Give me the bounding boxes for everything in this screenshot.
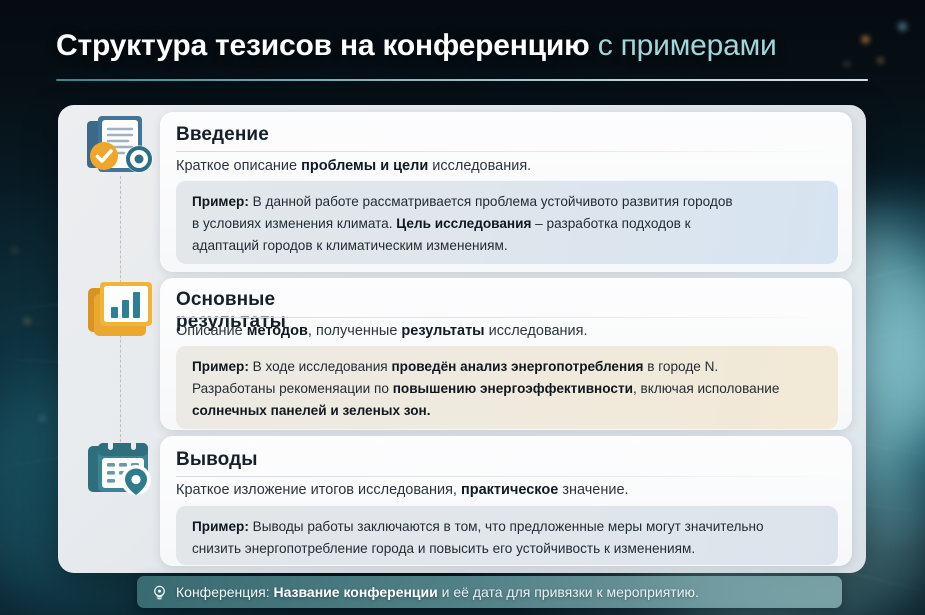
document-check-target-icon	[84, 114, 158, 184]
footer-bar[interactable]: Конференция: Название конференции и её д…	[137, 576, 842, 608]
section-subtitle: Описание методов, полученные результаты …	[176, 322, 588, 341]
section-heading-rule	[176, 476, 836, 477]
footer-text: Конференция: Название конференции и её д…	[176, 584, 699, 600]
slide-root: Структура тезисов на конференцию с приме…	[0, 0, 925, 615]
example-line: снизить энергопотребление города и повыс…	[192, 538, 822, 560]
background-bokeh	[878, 58, 883, 63]
page-title: Структура тезисов на конференцию с приме…	[56, 28, 868, 65]
example-label: Пример:	[192, 194, 249, 209]
example-label: Пример:	[192, 519, 249, 534]
example-line: в условиях изменения климата. Цель иссле…	[192, 213, 822, 235]
section-heading: Введение	[176, 124, 269, 146]
footer-label: Конференция:	[176, 584, 270, 600]
page-title-accent: с примерами	[598, 29, 777, 62]
example-box: Пример: В ходе исследования проведён ана…	[176, 345, 838, 429]
subtitle-bold: проблемы и цели	[301, 158, 428, 174]
section-heading-rule	[176, 151, 836, 152]
background-bokeh	[24, 318, 30, 324]
section-heading: Выводы	[176, 449, 258, 471]
example-line: Пример: В ходе исследования проведён ана…	[192, 356, 822, 378]
section-subtitle: Краткое описание проблемы и цели исследо…	[176, 157, 531, 176]
background-bokeh	[898, 22, 907, 31]
example-line: Пример: Выводы работы заключаются в том,…	[192, 516, 822, 538]
page-title-main: Структура тезисов на конференцию	[56, 29, 590, 62]
example-line: солнечных панелей и зеленых зон.	[192, 400, 822, 422]
example-line: Разработаны рекоменяации по повышению эн…	[192, 378, 822, 400]
example-line: адаптаций городов к климатическим измене…	[192, 235, 822, 257]
bar-chart-card-icon	[86, 278, 158, 344]
slide-title-area: Структура тезисов на конференцию с приме…	[56, 28, 868, 81]
example-box: Пример: В данной работе рассматривается …	[176, 180, 838, 264]
footer-bold: Название конференции	[270, 584, 438, 600]
background-bokeh	[40, 416, 45, 421]
example-label: Пример:	[192, 359, 249, 374]
section-subtitle: Краткое изложение итогов исследования, п…	[176, 481, 629, 500]
example-line: Пример: В данной работе рассматривается …	[192, 191, 822, 213]
footer-tail: и её дата для привязки к мероприятию.	[438, 584, 699, 600]
subtitle-pre: Краткое описание	[176, 158, 301, 174]
background-bokeh	[12, 248, 17, 253]
lightbulb-icon	[151, 584, 168, 601]
subtitle-post: исследования.	[428, 158, 531, 174]
example-box: Пример: Выводы работы заключаются в том,…	[176, 505, 838, 565]
calendar-location-pin-icon	[86, 438, 160, 504]
title-divider	[56, 79, 868, 81]
section-heading-rule	[176, 317, 836, 318]
